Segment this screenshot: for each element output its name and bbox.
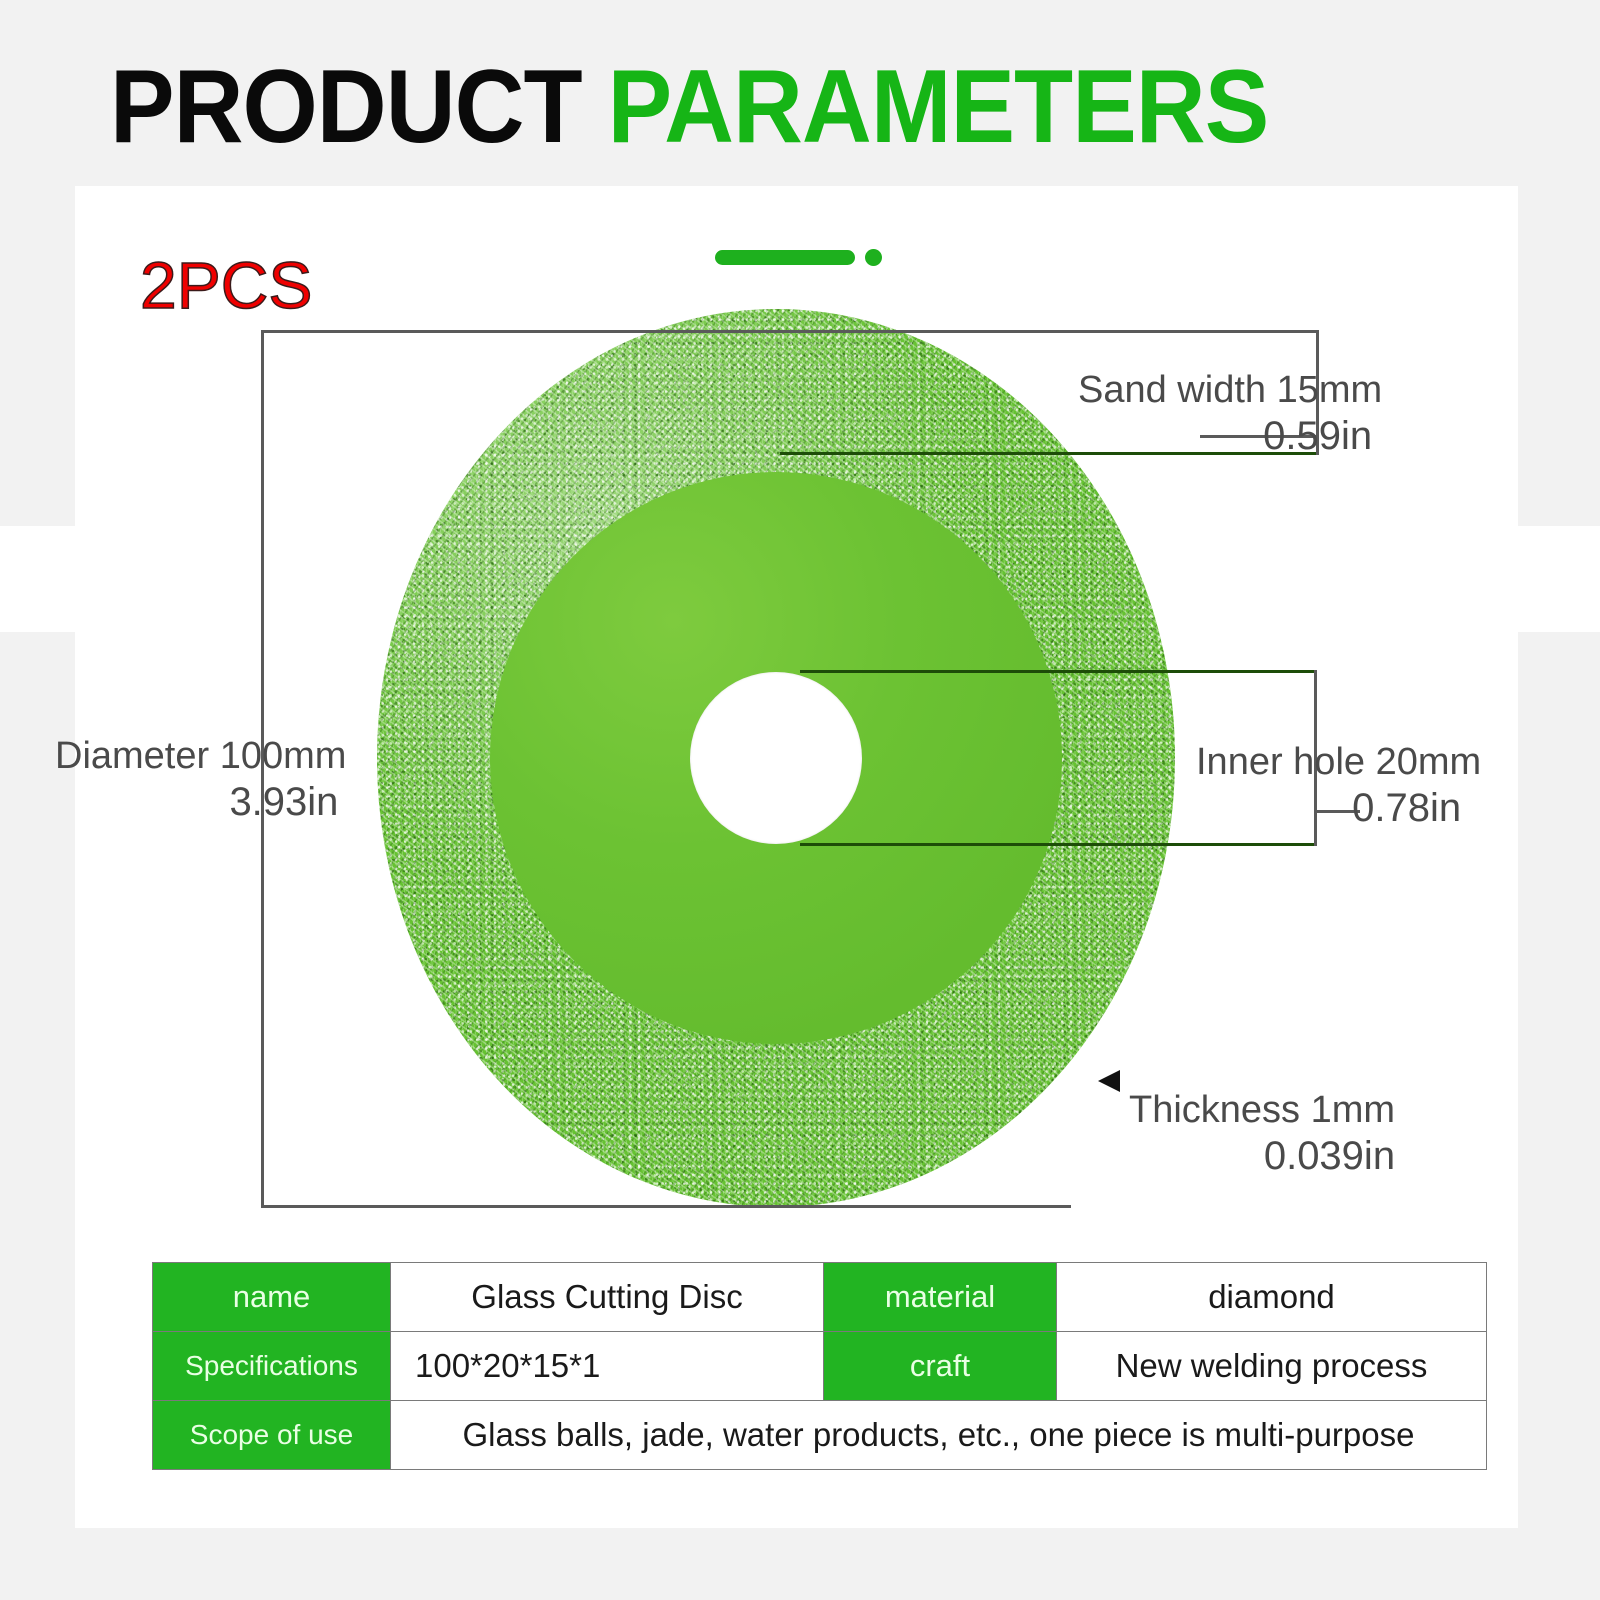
- table-row: name Glass Cutting Disc material diamond: [153, 1263, 1487, 1332]
- cell-value-scope-of-use: Glass balls, jade, water products, etc.,…: [391, 1401, 1487, 1470]
- page-title: PRODUCT PARAMETERS: [110, 55, 1268, 159]
- diameter-line1: Diameter 100mm: [55, 734, 346, 778]
- cell-key-material: material: [824, 1263, 1057, 1332]
- green-dot-decor: [865, 249, 882, 266]
- specification-table: name Glass Cutting Disc material diamond…: [152, 1262, 1487, 1470]
- cell-key-specifications: Specifications: [153, 1332, 391, 1401]
- inner-hole-bottom-line: [800, 843, 1316, 846]
- inner-hole-top-line: [800, 670, 1316, 673]
- callout-diameter: Diameter 100mm 3.93in: [55, 734, 346, 826]
- diameter-line2: 3.93in: [55, 778, 338, 826]
- title-word-product: PRODUCT: [110, 49, 582, 165]
- table-row: Specifications 100*20*15*1 craft New wel…: [153, 1332, 1487, 1401]
- cell-key-name: name: [153, 1263, 391, 1332]
- sand-width-line2: 0.59in: [1078, 412, 1372, 460]
- cell-value-name: Glass Cutting Disc: [391, 1263, 824, 1332]
- diameter-bracket-top: [261, 330, 1319, 333]
- cell-key-craft: craft: [824, 1332, 1057, 1401]
- thickness-line1: Thickness 1mm: [1129, 1088, 1395, 1132]
- diameter-bracket-bottom: [261, 1205, 1071, 1208]
- cell-value-craft: New welding process: [1057, 1332, 1487, 1401]
- quantity-badge: 2PCS: [140, 252, 312, 318]
- green-dash-decor: [715, 250, 855, 265]
- callout-inner-hole: Inner hole 20mm 0.78in: [1196, 740, 1481, 832]
- cell-value-material: diamond: [1057, 1263, 1487, 1332]
- cutting-disc-illustration: [377, 309, 1177, 1209]
- title-word-parameters: PARAMETERS: [608, 49, 1269, 165]
- callout-sand-width: Sand width 15mm 0.59in: [1078, 368, 1382, 460]
- cell-key-scope-of-use: Scope of use: [153, 1401, 391, 1470]
- sand-width-line1: Sand width 15mm: [1078, 368, 1382, 412]
- inner-hole-line2: 0.78in: [1196, 784, 1461, 832]
- table-row: Scope of use Glass balls, jade, water pr…: [153, 1401, 1487, 1470]
- disc-grit-rim: [377, 309, 1175, 1207]
- thickness-line2: 0.039in: [1129, 1132, 1395, 1180]
- infographic-canvas: PRODUCT PARAMETERS 2PCS Sand width 15mm …: [0, 0, 1600, 1600]
- cell-value-specifications: 100*20*15*1: [391, 1332, 824, 1401]
- thickness-arrow-icon: [1098, 1070, 1120, 1092]
- callout-thickness: Thickness 1mm 0.039in: [1129, 1088, 1395, 1180]
- disc-center-hole: [690, 672, 862, 844]
- inner-hole-line1: Inner hole 20mm: [1196, 740, 1481, 784]
